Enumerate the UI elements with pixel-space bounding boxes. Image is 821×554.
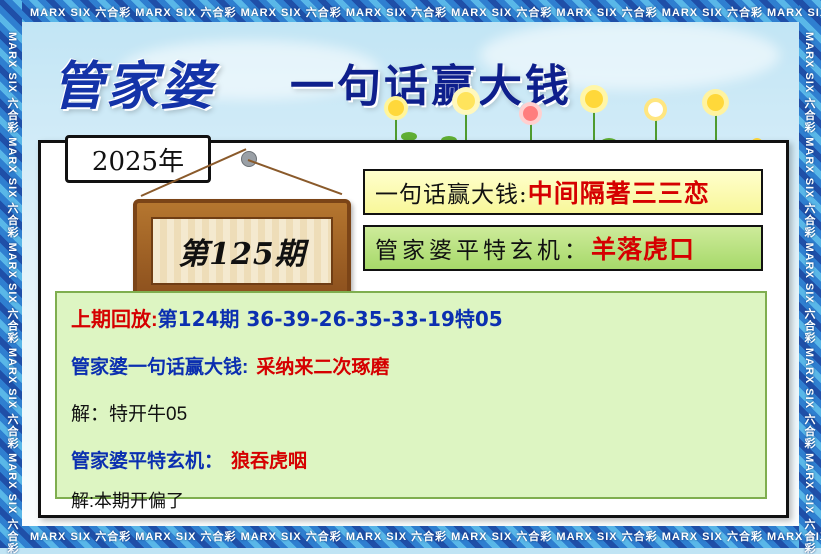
explain-row-2: 解:本期开偏了 bbox=[71, 487, 751, 513]
pingte-xuanji-value: 狼吞虎咽 bbox=[231, 446, 307, 473]
border-marquee-top: MARX SIX 六合彩 MARX SIX 六合彩 MARX SIX 六合彩 M… bbox=[30, 4, 821, 20]
replay-value: 第124期 36-39-26-35-33-19特05 bbox=[158, 303, 503, 332]
main-card: 2025年 第125期 一句话赢大钱: 中间隔著三三恋 管家婆平特玄机： 羊落虎… bbox=[38, 140, 789, 518]
page-header: 管家婆 一句话赢大钱 bbox=[22, 22, 799, 132]
site-logo: 管家婆 bbox=[52, 44, 214, 119]
pingte-xuanji-label: 管家婆平特玄机： bbox=[71, 446, 223, 473]
issue-board: 第125期 bbox=[133, 199, 351, 303]
banner-pingte-xuanji-value: 羊落虎口 bbox=[591, 230, 695, 266]
previous-issue-panel: 上期回放: 第124期 36-39-26-35-33-19特05 管家婆一句话赢… bbox=[55, 291, 767, 499]
replay-label: 上期回放: bbox=[71, 303, 158, 332]
banner-pingte-xuanji: 管家婆平特玄机： 羊落虎口 bbox=[363, 225, 763, 271]
banner-phrase-win: 一句话赢大钱: 中间隔著三三恋 bbox=[363, 169, 763, 215]
spacer bbox=[71, 336, 751, 352]
spacer bbox=[71, 430, 751, 446]
phrase-win-label: 管家婆一句话赢大钱: bbox=[71, 352, 248, 379]
border-top bbox=[0, 0, 821, 22]
explain-row-1: 解：特开牛05 bbox=[71, 399, 751, 426]
explain-text-1: 解：特开牛05 bbox=[71, 399, 187, 426]
issue-board-inner: 第125期 bbox=[151, 217, 333, 285]
year-plate: 2025年 bbox=[65, 135, 211, 183]
banner-phrase-win-value: 中间隔著三三恋 bbox=[528, 174, 710, 210]
phrase-win-value: 采纳来二次琢磨 bbox=[256, 352, 389, 379]
replay-row: 上期回放: 第124期 36-39-26-35-33-19特05 bbox=[71, 303, 751, 332]
spacer bbox=[71, 477, 751, 487]
explain-text-2: 解:本期开偏了 bbox=[71, 487, 184, 513]
phrase-win-row: 管家婆一句话赢大钱: 采纳来二次琢磨 bbox=[71, 352, 751, 379]
issue-number: 第125期 bbox=[178, 229, 306, 273]
banner-phrase-win-label: 一句话赢大钱: bbox=[375, 175, 528, 209]
banner-pingte-xuanji-label: 管家婆平特玄机： bbox=[375, 231, 591, 265]
sign-rope-right bbox=[248, 159, 343, 195]
pingte-xuanji-row: 管家婆平特玄机： 狼吞虎咽 bbox=[71, 446, 751, 473]
spacer bbox=[71, 383, 751, 399]
